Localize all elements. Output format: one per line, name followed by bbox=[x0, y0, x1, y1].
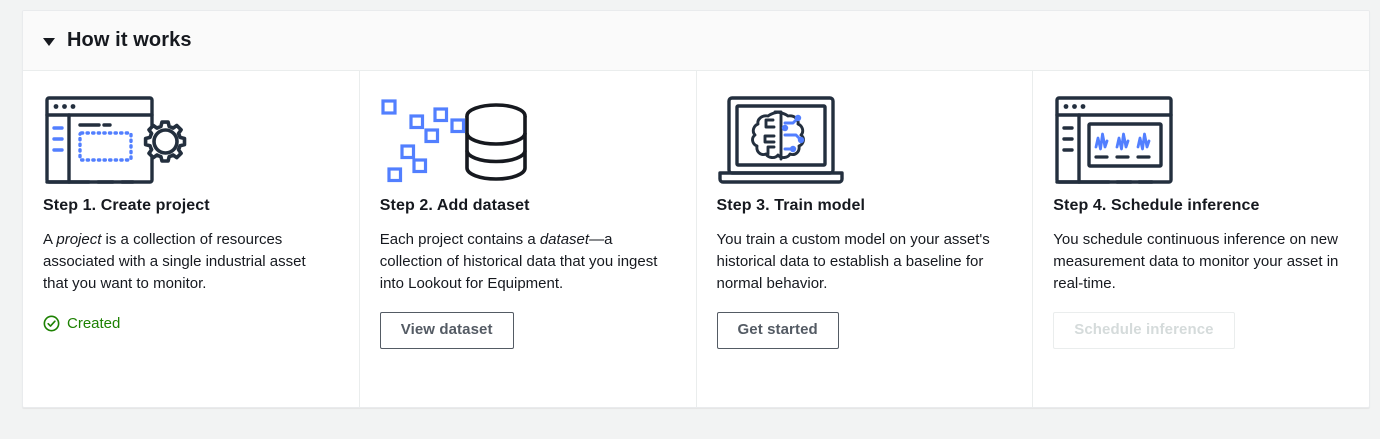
step-action: Get started bbox=[717, 312, 1009, 349]
get-started-button[interactable]: Get started bbox=[717, 312, 839, 349]
schedule-inference-button[interactable]: Schedule inference bbox=[1053, 312, 1234, 349]
view-dataset-button[interactable]: View dataset bbox=[380, 312, 514, 349]
step-description: A project is a collection of resources a… bbox=[43, 229, 335, 295]
step-action: Schedule inference bbox=[1053, 312, 1345, 349]
step-card-4: Step 4. Schedule inference You schedule … bbox=[1032, 71, 1369, 408]
step-card-3: Step 3. Train model You train a custom m… bbox=[696, 71, 1033, 408]
laptop-brain-icon bbox=[717, 89, 1009, 189]
step-description: You schedule continuous inference on new… bbox=[1053, 229, 1345, 295]
step-heading: Step 2. Add dataset bbox=[380, 197, 672, 215]
status-label: Created bbox=[67, 315, 120, 332]
step-card-1: Step 1. Create project A project is a co… bbox=[23, 71, 359, 408]
how-it-works-card: How it works bbox=[22, 10, 1370, 408]
check-circle-icon bbox=[43, 315, 60, 332]
step-action: View dataset bbox=[380, 312, 672, 349]
browser-window-charts-icon bbox=[1053, 89, 1345, 189]
caret-down-icon[interactable] bbox=[43, 38, 55, 46]
step-heading: Step 3. Train model bbox=[717, 197, 1009, 215]
step-heading: Step 1. Create project bbox=[43, 197, 335, 215]
step-description: Each project contains a dataset—a collec… bbox=[380, 229, 672, 295]
page-root: How it works bbox=[0, 0, 1380, 439]
browser-window-gear-icon bbox=[43, 89, 335, 189]
status-badge: Created bbox=[43, 315, 335, 332]
step-card-2: Step 2. Add dataset Each project contain… bbox=[359, 71, 696, 408]
card-title: How it works bbox=[67, 29, 192, 52]
data-points-database-icon bbox=[380, 89, 672, 189]
step-description: You train a custom model on your asset's… bbox=[717, 229, 1009, 295]
card-header[interactable]: How it works bbox=[23, 11, 1369, 71]
step-heading: Step 4. Schedule inference bbox=[1053, 197, 1345, 215]
steps-container: Step 1. Create project A project is a co… bbox=[23, 71, 1369, 408]
